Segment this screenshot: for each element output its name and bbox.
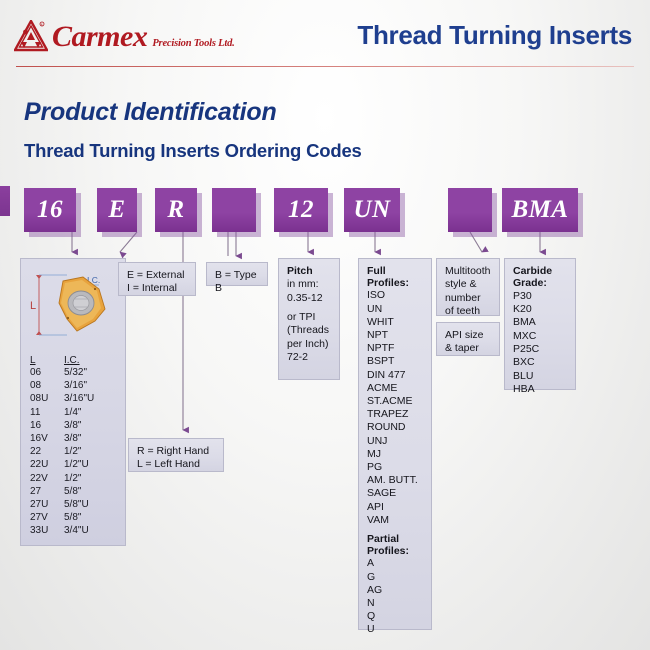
- profile-item: API: [367, 501, 423, 514]
- table-row: 111/4": [30, 406, 122, 419]
- brand-logo: R Carmex Precision Tools Ltd.: [14, 20, 235, 52]
- carbide-grade-box: Carbide Grade: P30 K20 BMA MXC P25C BXC …: [504, 258, 576, 390]
- grade-item: P30: [513, 290, 567, 303]
- right-hand-line: R = Right Hand: [137, 445, 215, 458]
- profile-item: PG: [367, 461, 423, 474]
- code-box-label: 12: [288, 196, 314, 224]
- cell-ic: 5/8": [64, 485, 120, 498]
- cell-ic: 1/2": [64, 472, 120, 485]
- code-box-type[interactable]: [212, 188, 256, 232]
- cell-l: 16V: [30, 432, 64, 445]
- code-box-label: UN: [353, 196, 390, 224]
- table-row: 27V5/8": [30, 511, 122, 524]
- cell-ic: 1/4": [64, 406, 120, 419]
- partial-profiles-title: Partial: [367, 533, 423, 545]
- cell-ic: 5/8": [64, 511, 120, 524]
- cell-l: 08U: [30, 392, 64, 405]
- brand-name: Carmex: [52, 22, 147, 52]
- cell-l: 22V: [30, 472, 64, 485]
- profile-item: ST.ACME: [367, 395, 423, 408]
- table-row: 275/8": [30, 485, 122, 498]
- threading-insert-illustration-icon: L I.C.: [21, 259, 125, 351]
- table-row: 22V1/2": [30, 472, 122, 485]
- cell-ic: 5/8"U: [64, 498, 120, 511]
- api-line: API size: [445, 329, 491, 342]
- code-box-label: 16: [37, 196, 63, 224]
- grade-item: MXC: [513, 330, 567, 343]
- section-subheading: Thread Turning Inserts Ordering Codes: [24, 140, 362, 162]
- full-profiles-title-2: Profiles:: [367, 277, 423, 289]
- profile-item: ACME: [367, 382, 423, 395]
- table-row: 22U1/2"U: [30, 458, 122, 471]
- cell-l: 11: [30, 406, 64, 419]
- cell-l: 33U: [30, 524, 64, 537]
- profile-item: AM. BUTT.: [367, 474, 423, 487]
- left-hand-line: L = Left Hand: [137, 458, 215, 471]
- code-box-direction[interactable]: R: [155, 188, 197, 232]
- pitch-mm-label: in mm:: [287, 278, 331, 291]
- partial-profile-item: U: [367, 623, 423, 636]
- grade-item: K20: [513, 303, 567, 316]
- cell-l: 27: [30, 485, 64, 498]
- code-box-label: BMA: [511, 196, 568, 224]
- profile-item: UNJ: [367, 435, 423, 448]
- brand-tagline: Precision Tools Ltd.: [152, 38, 234, 49]
- cell-ic: 5/32": [64, 366, 120, 379]
- pitch-tpi-sub1: (Threads: [287, 324, 331, 337]
- page-header: R Carmex Precision Tools Ltd. Thread Tur…: [0, 0, 650, 72]
- code-box-label: E: [108, 196, 125, 224]
- hand-direction-box: R = Right Hand L = Left Hand: [128, 438, 224, 472]
- partial-profiles-title-2: Profiles:: [367, 545, 423, 557]
- cell-l: 22: [30, 445, 64, 458]
- table-row: 16V3/8": [30, 432, 122, 445]
- profile-item: WHIT: [367, 316, 423, 329]
- api-line: & taper: [445, 342, 491, 355]
- full-profiles-title: Full: [367, 265, 423, 277]
- code-box-pitch[interactable]: 12: [274, 188, 328, 232]
- partial-profile-item: G: [367, 571, 423, 584]
- partial-profile-item: AG: [367, 584, 423, 597]
- svg-text:L: L: [30, 300, 36, 312]
- external-internal-box: E = External I = Internal: [118, 262, 196, 296]
- table-row: 083/16": [30, 379, 122, 392]
- external-line: E = External: [127, 269, 187, 282]
- cell-l: 22U: [30, 458, 64, 471]
- partial-profile-item: Q: [367, 610, 423, 623]
- cell-ic: 3/16"U: [64, 392, 120, 405]
- type-b-line: B = Type B: [215, 269, 259, 296]
- profile-item: NPT: [367, 329, 423, 342]
- cell-l: 16: [30, 419, 64, 432]
- column-header-l: L: [30, 355, 64, 366]
- column-header-ic: I.C.: [64, 355, 120, 366]
- table-row: 163/8": [30, 419, 122, 432]
- table-header-row: L I.C.: [30, 355, 122, 366]
- page-title: Thread Turning Inserts: [357, 20, 632, 51]
- carbide-title-2: Grade:: [513, 277, 567, 289]
- pitch-box: Pitch in mm: 0.35-12 or TPI (Threads per…: [278, 258, 340, 380]
- table-row: 27U5/8"U: [30, 498, 122, 511]
- profile-item: VAM: [367, 514, 423, 527]
- pitch-tpi-sub2: per Inch): [287, 338, 331, 351]
- cell-ic: 3/4"U: [64, 524, 120, 537]
- code-box-hand[interactable]: E: [97, 188, 137, 232]
- code-box-size[interactable]: 16: [24, 188, 76, 232]
- profile-item: DIN 477: [367, 369, 423, 382]
- cell-l: 27V: [30, 511, 64, 524]
- multitooth-line: style &: [445, 278, 491, 291]
- profile-item: MJ: [367, 448, 423, 461]
- profiles-box: Full Profiles: ISO UN WHIT NPT NPTF BSPT…: [358, 258, 432, 630]
- table-row: 08U3/16"U: [30, 392, 122, 405]
- table-row: 221/2": [30, 445, 122, 458]
- code-box-profile[interactable]: UN: [344, 188, 400, 232]
- profile-item: BSPT: [367, 355, 423, 368]
- table-row: 33U3/4"U: [30, 524, 122, 537]
- cell-ic: 3/8": [64, 419, 120, 432]
- pitch-tpi-label: or TPI: [287, 311, 331, 324]
- grade-item: BMA: [513, 316, 567, 329]
- partial-profile-item: A: [367, 557, 423, 570]
- cell-ic: 1/2"U: [64, 458, 120, 471]
- multitooth-line: of teeth: [445, 305, 491, 318]
- insert-size-panel: L I.C. L I.C. 065/32" 083/16" 08U3/16"U: [20, 258, 126, 546]
- cell-ic: 1/2": [64, 445, 120, 458]
- carbide-title: Carbide: [513, 265, 567, 277]
- partial-profile-item: N: [367, 597, 423, 610]
- svg-text:R: R: [41, 23, 43, 27]
- grade-item: HBA: [513, 383, 567, 396]
- pitch-mm-range: 0.35-12: [287, 292, 331, 305]
- cell-ic: 3/16": [64, 379, 120, 392]
- profile-item: SAGE: [367, 487, 423, 500]
- api-size-box: API size & taper: [436, 322, 500, 356]
- grade-item: BXC: [513, 356, 567, 369]
- multitooth-line: Multitooth: [445, 265, 491, 278]
- profile-item: ROUND: [367, 421, 423, 434]
- section-heading: Product Identification: [24, 98, 277, 127]
- code-box-multitooth[interactable]: [448, 188, 492, 232]
- code-box-label: R: [167, 196, 184, 224]
- cell-l: 27U: [30, 498, 64, 511]
- header-divider: [16, 66, 634, 67]
- cell-ic: 3/8": [64, 432, 120, 445]
- code-box-grade[interactable]: BMA: [502, 188, 578, 232]
- pitch-title: Pitch: [287, 265, 331, 278]
- profile-item: NPTF: [367, 342, 423, 355]
- internal-line: I = Internal: [127, 282, 187, 295]
- grade-item: P25C: [513, 343, 567, 356]
- multitooth-box: Multitooth style & number of teeth: [436, 258, 500, 316]
- cell-l: 08: [30, 379, 64, 392]
- profile-item: TRAPEZ: [367, 408, 423, 421]
- grade-item: BLU: [513, 370, 567, 383]
- page-canvas: R Carmex Precision Tools Ltd. Thread Tur…: [0, 0, 650, 650]
- size-table: L I.C. 065/32" 083/16" 08U3/16"U 111/4" …: [30, 355, 122, 538]
- profile-item: ISO: [367, 289, 423, 302]
- multitooth-line: number: [445, 292, 491, 305]
- table-row: 065/32": [30, 366, 122, 379]
- pitch-tpi-range: 72-2: [287, 351, 331, 364]
- profile-item: UN: [367, 303, 423, 316]
- cell-l: 06: [30, 366, 64, 379]
- carmex-triangle-logo-icon: R: [14, 20, 48, 52]
- type-b-box: B = Type B: [206, 262, 268, 286]
- left-accent-bar: [0, 186, 10, 216]
